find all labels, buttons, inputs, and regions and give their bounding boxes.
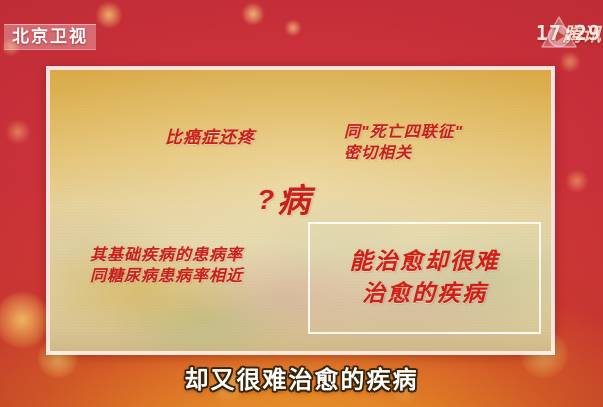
highlight-box: 能治愈却很难 治愈的疾病 [308, 222, 541, 334]
clock-display: 17:29 [536, 21, 601, 45]
highlight-box-line-1: 能治愈却很难 [350, 248, 500, 276]
channel-logo-label: 北京卫视 [12, 28, 88, 45]
subtitle-text: 却又很难治愈的疾病 [0, 360, 603, 395]
channel-logo: 北京卫视 [4, 24, 96, 50]
text-pain-note: 比癌症还疼 [165, 127, 255, 149]
question-mark-glyph: ? [257, 186, 275, 217]
text-center-riddle: ? 病 [257, 184, 311, 217]
disease-glyph: 病 [277, 184, 311, 217]
highlight-box-line-2: 治愈的疾病 [362, 280, 487, 308]
overlay-topright: 17:29 腾讯 [536, 16, 601, 50]
text-prevalence-note: 其基础疾病的患病率 同糖尿病患病率相近 [90, 245, 243, 287]
video-frame: 北京卫视 17:29 腾讯 比癌症还疼 同"死亡四联征" 密切相关 其基础疾病的… [0, 0, 603, 407]
content-card: 比癌症还疼 同"死亡四联征" 密切相关 其基础疾病的患病率 同糖尿病患病率相近 … [46, 66, 555, 355]
text-quartet-note: 同"死亡四联征" 密切相关 [344, 122, 463, 164]
